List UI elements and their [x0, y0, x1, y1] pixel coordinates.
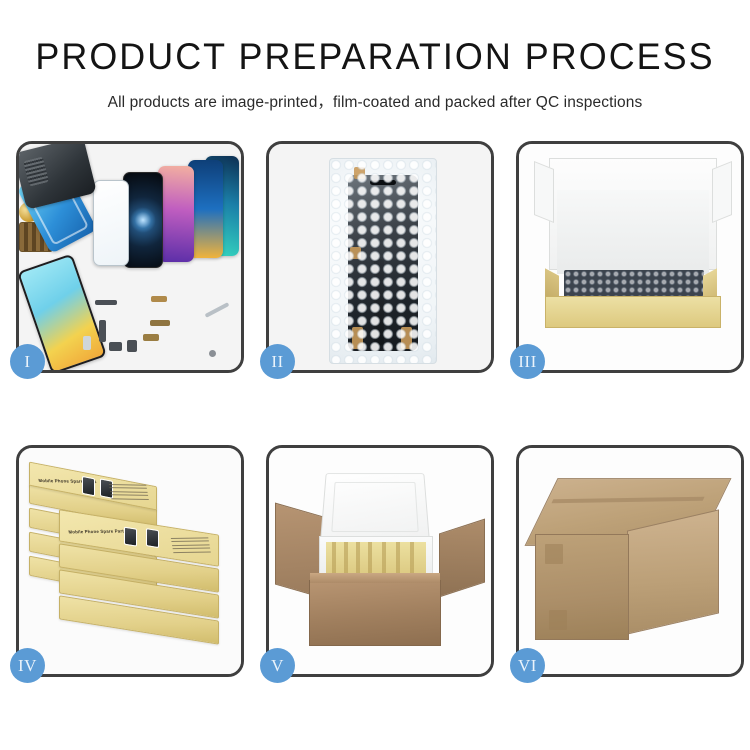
small-part-icon: [95, 300, 117, 305]
tape-patch-icon: [549, 610, 567, 630]
process-step-panel-6[interactable]: VI: [516, 445, 744, 677]
screwdriver-icon: [205, 302, 230, 318]
sealed-carton-scene: [519, 448, 741, 674]
panel-4-image: Mobile Phone Spare Parts Mobile Phone Sp…: [19, 448, 241, 674]
page-title: PRODUCT PREPARATION PROCESS: [11, 38, 739, 75]
box-stack: Mobile Phone Spare Parts Mobile Phone Sp…: [27, 460, 241, 668]
process-step-panel-2[interactable]: II: [266, 141, 494, 373]
small-part-icon: [151, 296, 167, 302]
process-step-panel-5[interactable]: V: [266, 445, 494, 677]
box-front-panel-icon: [545, 296, 721, 328]
box-spec-lines: [109, 484, 149, 502]
process-step-panel-3[interactable]: III: [516, 141, 744, 373]
foam-lid-icon: [320, 473, 430, 542]
small-part-icon: [150, 320, 170, 326]
panel-1-image: [19, 144, 241, 370]
step-badge-4: IV: [10, 648, 45, 683]
step-badge-3: III: [510, 344, 545, 379]
small-part-icon: [83, 336, 91, 350]
bubble-wrap-scene: [269, 144, 491, 370]
step-badge-6: VI: [510, 648, 545, 683]
box-spec-lines: [171, 537, 211, 555]
step-badge-1: I: [10, 344, 45, 379]
small-part-icon: [143, 334, 159, 341]
phone-dark-display-icon: [123, 172, 163, 268]
small-part-icon: [99, 320, 106, 342]
box-label-text: Mobile Phone Spare Parts: [68, 528, 127, 534]
panel-5-image: [269, 448, 491, 674]
panel-2-image: [269, 144, 491, 370]
tape-patch-icon: [545, 544, 563, 564]
glass-screen-protector-icon: [93, 180, 129, 266]
bubble-wrap-bag-icon: [329, 158, 437, 364]
process-step-panel-1[interactable]: I: [16, 141, 244, 373]
foam-carton-scene: [269, 448, 491, 674]
step-badge-5: V: [260, 648, 295, 683]
phone-back-housing-icon: [19, 144, 97, 210]
carton-side-face-icon: [627, 509, 719, 634]
phone-thumbnail-icon: [124, 527, 137, 547]
stacked-boxes-scene: Mobile Phone Spare Parts Mobile Phone Sp…: [19, 448, 241, 674]
process-step-grid: I II: [16, 141, 734, 677]
screw-icon: [209, 350, 216, 357]
carton-right-flap-icon: [439, 519, 485, 598]
inner-box-scene: [519, 144, 741, 370]
step-badge-2: II: [260, 344, 295, 379]
box-inner-wall-icon: [557, 190, 709, 274]
small-part-icon: [127, 340, 137, 352]
phone-thumbnail-icon: [146, 528, 159, 548]
phone-parts-scene: [19, 144, 241, 370]
page-header: PRODUCT PREPARATION PROCESS All products…: [0, 0, 750, 112]
carton-body-icon: [309, 580, 441, 646]
page-subtitle: All products are image-printed，film-coat…: [0, 90, 750, 112]
phone-thumbnail-icon: [82, 476, 95, 497]
panel-3-image: [519, 144, 741, 370]
phone-purple-icon: [158, 166, 194, 262]
process-step-panel-4[interactable]: Mobile Phone Spare Parts Mobile Phone Sp…: [16, 445, 244, 677]
bubble-texture: [330, 159, 436, 363]
panel-6-image: [519, 448, 741, 674]
small-part-icon: [109, 342, 122, 351]
